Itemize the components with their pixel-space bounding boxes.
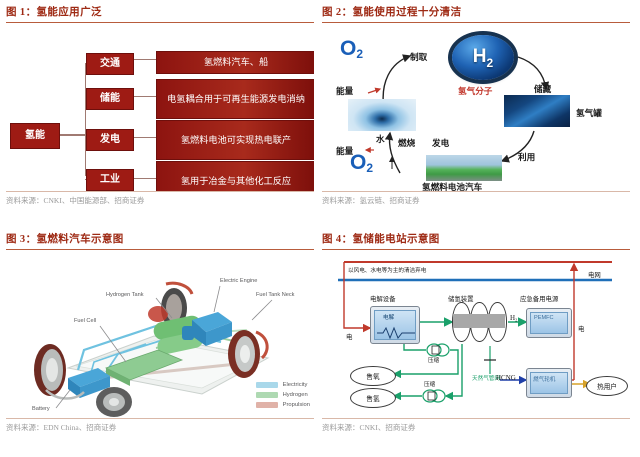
figure-panel-4: 图 4：氢储能电站示意图 <box>322 231 630 433</box>
figure-4-body: 以风电、水电等为主的清洁弃电 电网 电 电 电解设备 储氢装置 应急备用电源 电… <box>322 250 630 418</box>
fuel-cell-vehicle-cutaway: Electric Engine Fuel Tank Neck Hydrogen … <box>6 250 314 418</box>
compressor-2-icon[interactable] <box>422 389 446 403</box>
tree-detail-transport[interactable]: 氢燃料汽车、船 <box>156 51 314 74</box>
legend-label-electricity: Electricity <box>283 382 308 388</box>
tree-detail-industry[interactable]: 氢用于冶金与其他化工反应 <box>156 161 314 191</box>
callout-hydrogen-tank: Hydrogen Tank <box>106 292 144 298</box>
tree-root-node[interactable]: 氢能 <box>10 123 60 149</box>
legend-swatch-propulsion <box>256 402 278 408</box>
energy-label-bottom: 能量 <box>336 145 353 157</box>
grid-label: 电网 <box>588 270 601 279</box>
connector-branch-3-detail <box>132 137 156 138</box>
report-figure-page: 图 1：氢能应用广泛 氢能 交通 储能 发电 工业 氢燃料汽车、船 <box>0 0 640 457</box>
gas-turbine-inner-label: 燃气轮机 <box>533 375 555 383</box>
hydrogen-storage-plant-flow: 以风电、水电等为主的清洁弃电 电网 电 电 电解设备 储氢装置 应急备用电源 电… <box>322 250 630 418</box>
process-label-storage: 储藏 <box>534 83 551 95</box>
figure-2-body: O2 O2 制取 储藏 利用 燃烧 发电 能量 能量 H2 氢气分子 水 <box>322 23 630 191</box>
power-label-left: 电 <box>346 332 352 341</box>
fuel-cell-bus-photo <box>426 155 502 181</box>
tree-branch-node-transport[interactable]: 交通 <box>86 53 134 75</box>
callout-fuel-cell: Fuel Cell <box>74 318 96 324</box>
connector-branch-2-detail <box>132 96 156 97</box>
emergency-power-device[interactable]: PEMFC <box>526 308 572 338</box>
gas-turbine-device[interactable]: 燃气轮机 <box>526 368 572 398</box>
figure-4-source: 资料来源：CNKI、招商证券 <box>322 419 630 433</box>
compressor-1-icon[interactable] <box>426 343 450 357</box>
power-label-right: 电 <box>578 324 584 333</box>
legend-item-propulsion: Propulsion <box>256 402 310 408</box>
stream-label-hcng: HCNG <box>496 374 516 382</box>
tree-branch-node-industry[interactable]: 工业 <box>86 169 134 191</box>
legend-label-propulsion: Propulsion <box>283 402 310 408</box>
connector-branch-1-detail <box>132 59 156 60</box>
oxygen-label-bottom: O2 <box>350 151 373 175</box>
figure-1-source: 资料来源：CNKI、中国能源部、招商证券 <box>6 192 314 206</box>
callout-fuel-tank-neck: Fuel Tank Neck <box>256 292 294 298</box>
callout-battery: Battery <box>32 406 50 412</box>
station-label-emergency-power: 应急备用电源 <box>520 294 558 303</box>
compressor-1-label: 压缩 <box>428 356 439 364</box>
node-label-water: 水 <box>376 133 385 145</box>
legend-swatch-hydrogen <box>256 392 278 398</box>
process-label-generation: 发电 <box>432 137 449 149</box>
tree-branch-node-power[interactable]: 发电 <box>86 129 134 151</box>
legend-swatch-electricity <box>256 382 278 388</box>
connector-branch-4-detail <box>132 178 156 179</box>
figure-panel-2: 图 2：氢能使用过程十分清洁 <box>322 4 630 206</box>
molecule-caption: 氢气分子 <box>458 85 492 97</box>
node-label-fuel-cell-bus: 氢燃料电池汽车 <box>422 181 482 191</box>
hydrogen-cycle-illustration: O2 O2 制取 储藏 利用 燃烧 发电 能量 能量 H2 氢气分子 水 <box>322 23 630 191</box>
water-photo <box>348 99 416 131</box>
process-label-utilization: 利用 <box>518 151 535 163</box>
storage-tank-band <box>453 314 505 328</box>
electrolysis-inner-label: 电解 <box>383 313 394 321</box>
connector-root-spine <box>58 134 86 135</box>
legend-item-electricity: Electricity <box>256 382 310 388</box>
figure-2-source: 资料来源：氢云链、招商证券 <box>322 192 630 206</box>
tree-branch-node-storage[interactable]: 储能 <box>86 88 134 110</box>
process-label-combustion: 燃烧 <box>398 137 415 149</box>
hydrogen-tank-photo <box>504 95 570 127</box>
figure-3-title: 图 3：氢燃料汽车示意图 <box>6 231 314 246</box>
compressor-2-label: 压缩 <box>424 380 435 388</box>
electrolysis-device[interactable]: 电解 <box>370 306 420 344</box>
figure-3-body: Electric Engine Fuel Tank Neck Hydrogen … <box>6 250 314 418</box>
figure-1-title: 图 1：氢能应用广泛 <box>6 4 314 19</box>
figure-panel-3: 图 3：氢燃料汽车示意图 <box>6 231 314 433</box>
tree-detail-storage[interactable]: 电氢耦合用于可再生能源发电消纳 <box>156 79 314 119</box>
emergency-power-inner-label: PEMFC <box>534 315 554 321</box>
electrolysis-waveform-icon <box>373 325 419 339</box>
top-note-line: 以风电、水电等为主的清洁弃电 <box>348 266 426 274</box>
figure-4-title: 图 4：氢储能电站示意图 <box>322 231 630 246</box>
figure-1-body: 氢能 交通 储能 发电 工业 氢燃料汽车、船 电氢耦合用于可再生能源发电消纳 氢… <box>6 23 314 191</box>
figure-2-title: 图 2：氢能使用过程十分清洁 <box>322 4 630 19</box>
legend-label-hydrogen: Hydrogen <box>283 392 308 398</box>
tree-detail-power[interactable]: 氢燃料电池可实现热电联产 <box>156 120 314 160</box>
hydrogen-application-tree: 氢能 交通 储能 发电 工业 氢燃料汽车、船 电氢耦合用于可再生能源发电消纳 氢… <box>6 23 314 191</box>
stream-label-h2: H₂ <box>510 314 518 322</box>
connector-spine-vertical <box>85 63 86 176</box>
energy-label-top: 能量 <box>336 85 353 97</box>
callout-electric-engine: Electric Engine <box>220 278 257 284</box>
figure-3-legend: Electricity Hydrogen Propulsion <box>256 382 310 412</box>
station-label-electrolysis: 电解设备 <box>370 294 396 303</box>
figure-panel-1: 图 1：氢能应用广泛 氢能 交通 储能 发电 工业 氢燃料汽车、船 <box>6 4 314 206</box>
legend-item-hydrogen: Hydrogen <box>256 392 310 398</box>
process-label-production: 制取 <box>410 51 427 63</box>
oxygen-label-top: O2 <box>340 37 363 61</box>
figure-3-source: 资料来源：EDN China、招商证券 <box>6 419 314 433</box>
node-label-hydrogen-tank: 氢气罐 <box>576 107 602 119</box>
